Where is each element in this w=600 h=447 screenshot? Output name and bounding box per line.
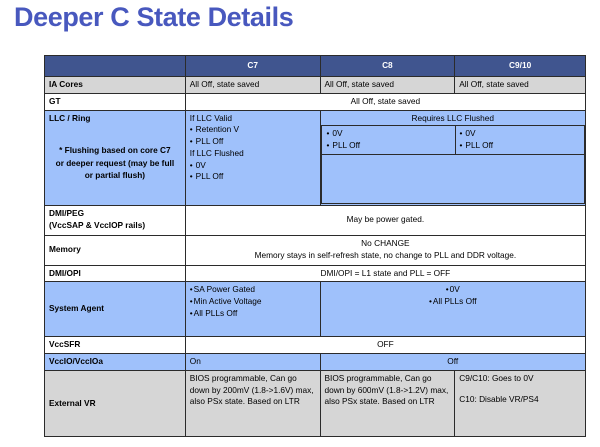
cell-system-agent-c7: SA Power Gated Min Active Voltage All PL…	[185, 282, 320, 337]
row-label-dmi-peg: DMI/PEG	[49, 208, 181, 220]
table-row-vccsfr: VccSFR OFF	[45, 337, 586, 354]
row-label-dmi-opi: DMI/OPI	[45, 265, 186, 282]
cell-ia-cores-c7: All Off, state saved	[185, 77, 320, 94]
cell-llc-ring-c7: If LLC Valid Retention V PLL Off If LLC …	[185, 110, 320, 205]
list-item: SA Power Gated	[190, 284, 316, 296]
list-item: Retention V	[190, 124, 316, 136]
table-row-external-vr: External VR BIOS programmable, Can go do…	[45, 370, 586, 436]
cell-system-agent-c8-c9: 0V All PLLs Off	[320, 282, 586, 337]
list-item: 0V	[429, 284, 477, 296]
cell-ia-cores-c8: All Off, state saved	[320, 77, 455, 94]
llc-c8-bullets: 0V PLL Off	[327, 128, 450, 152]
cell-vccsfr-merged: OFF	[185, 337, 585, 354]
list-item: 0V	[460, 128, 581, 140]
table-row-gt: GT All Off, state saved	[45, 93, 586, 110]
list-item: Min Active Voltage	[190, 296, 316, 308]
row-label-external-vr: External VR	[45, 370, 186, 436]
system-agent-c8c9-bullets: 0V All PLLs Off	[429, 284, 477, 308]
external-vr-spacer	[459, 385, 581, 394]
cell-dmi-opi-merged: DMI/OPI = L1 state and PLL = OFF	[185, 265, 585, 282]
list-item: PLL Off	[190, 171, 316, 183]
external-vr-c9-line-1: C9/C10: Goes to 0V	[459, 373, 581, 385]
row-label-dmi-peg-cell: DMI/PEG (VccSAP & VccIOP rails)	[45, 205, 186, 235]
cell-external-vr-c9-10: C9/C10: Goes to 0V C10: Disable VR/PS4	[455, 370, 586, 436]
list-item: 0V	[190, 160, 316, 172]
llc-c7-heading-2: If LLC Flushed	[190, 148, 316, 160]
table-row-system-agent: System Agent SA Power Gated Min Active V…	[45, 282, 586, 337]
list-item: PLL Off	[190, 136, 316, 148]
cell-gt-merged: All Off, state saved	[185, 93, 585, 110]
cell-external-vr-c8: BIOS programmable, Can go down by 600mV …	[320, 370, 455, 436]
llc-ring-subtable: 0V PLL Off 0V PLL Off	[321, 125, 586, 204]
cell-llc-ring-c8: 0V PLL Off	[321, 126, 455, 155]
column-header-blank	[45, 56, 186, 77]
row-label-llc-ring: LLC / Ring	[49, 113, 181, 125]
row-label-gt: GT	[45, 93, 186, 110]
cell-dmi-peg-merged: May be power gated.	[185, 205, 585, 235]
external-vr-c9-line-2: C10: Disable VR/PS4	[459, 394, 581, 406]
cell-memory-merged: No CHANGE Memory stays in self-refresh s…	[185, 235, 585, 265]
llc-c9-bullets: 0V PLL Off	[460, 128, 581, 152]
row-label-llc-ring-cell: LLC / Ring * Flushing based on core C7 o…	[45, 110, 186, 205]
list-item: PLL Off	[460, 140, 581, 152]
table-row-dmi-opi: DMI/OPI DMI/OPI = L1 state and PLL = OFF	[45, 265, 586, 282]
list-item: All PLLs Off	[190, 308, 316, 320]
cell-external-vr-c7: BIOS programmable, Can go down by 200mV …	[185, 370, 320, 436]
llc-flushed-heading: Requires LLC Flushed	[321, 113, 586, 125]
table-row-dmi-peg: DMI/PEG (VccSAP & VccIOP rails) May be p…	[45, 205, 586, 235]
llc-ring-empty-area	[321, 154, 585, 203]
llc-c7-bullets-flushed: 0V PLL Off	[190, 160, 316, 184]
table-row-memory: Memory No CHANGE Memory stays in self-re…	[45, 235, 586, 265]
list-item: All PLLs Off	[429, 296, 477, 308]
list-item: PLL Off	[327, 140, 450, 152]
c-state-details-table: C7 C8 C9/10 IA Cores All Off, state save…	[44, 55, 586, 437]
page-title: Deeper C State Details	[14, 2, 293, 33]
cell-vccio-c8-c9: Off	[320, 354, 586, 371]
table-row-vccio: VccIO/VccIOa On Off	[45, 354, 586, 371]
cell-llc-ring-c8-c9: Requires LLC Flushed 0V PLL Off 0V	[320, 110, 586, 205]
llc-c7-heading-1: If LLC Valid	[190, 113, 316, 125]
cell-ia-cores-c9-10: All Off, state saved	[455, 77, 586, 94]
row-label-memory: Memory	[45, 235, 186, 265]
row-label-system-agent: System Agent	[45, 282, 186, 337]
column-header-c9-10: C9/10	[455, 56, 586, 77]
system-agent-c7-bullets: SA Power Gated Min Active Voltage All PL…	[190, 284, 316, 319]
cell-vccio-c7: On	[185, 354, 320, 371]
row-label-vccsfr: VccSFR	[45, 337, 186, 354]
llc-c7-bullets-valid: Retention V PLL Off	[190, 124, 316, 148]
row-label-ia-cores: IA Cores	[45, 77, 186, 94]
table-header-row: C7 C8 C9/10	[45, 56, 586, 77]
cell-llc-ring-c9-10: 0V PLL Off	[455, 126, 585, 155]
column-header-c7: C7	[185, 56, 320, 77]
table-row-llc-ring: LLC / Ring * Flushing based on core C7 o…	[45, 110, 586, 205]
table-row-ia-cores: IA Cores All Off, state saved All Off, s…	[45, 77, 586, 94]
llc-ring-footnote: * Flushing based on core C7 or deeper re…	[49, 144, 181, 181]
memory-line-1: No CHANGE	[190, 238, 581, 250]
column-header-c8: C8	[320, 56, 455, 77]
row-label-vccio: VccIO/VccIOa	[45, 354, 186, 371]
row-label-dmi-peg-rails: (VccSAP & VccIOP rails)	[49, 220, 181, 232]
list-item: 0V	[327, 128, 450, 140]
memory-line-2: Memory stays in self-refresh state, no c…	[190, 250, 581, 262]
